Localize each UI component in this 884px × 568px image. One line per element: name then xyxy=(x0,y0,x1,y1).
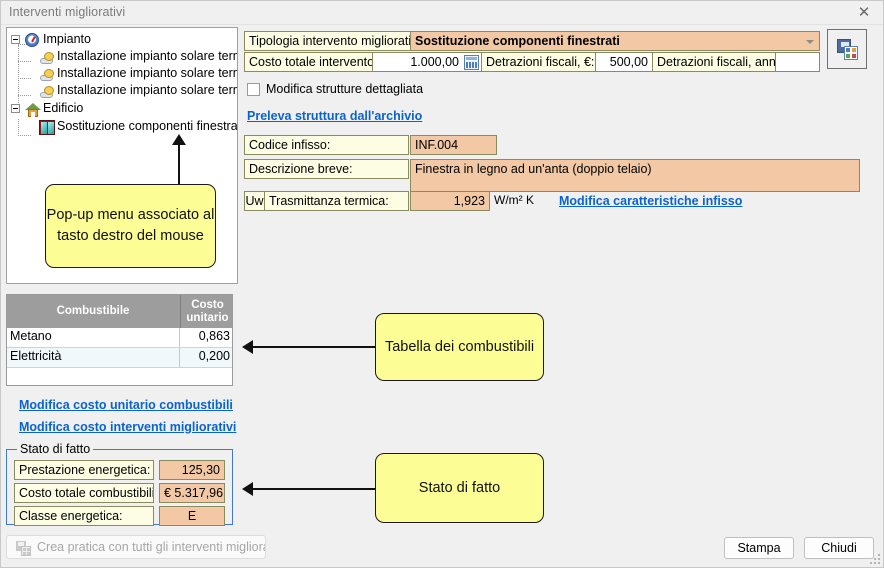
tree-node-label: Sostituzione componenti finestrati xyxy=(57,119,238,133)
trasmittanza-unit: W/m² K xyxy=(494,193,534,207)
cell-costo-unitario: 0,863 xyxy=(180,329,230,343)
cell-combustibile: Metano xyxy=(10,329,52,343)
save-disk-icon xyxy=(837,39,859,61)
annotation-popup-menu: Pop-up menu associato al tasto destro de… xyxy=(45,184,216,268)
detrazioni-anni-input[interactable] xyxy=(775,52,820,72)
annotation-tabella-combustibili: Tabella dei combustibili xyxy=(375,313,544,381)
tree-node-label: Installazione impianto solare termico c xyxy=(57,83,238,97)
window-title: Interventi migliorativi xyxy=(9,5,125,19)
fuel-table[interactable]: Combustibile Costo unitario Metano 0,863… xyxy=(6,294,233,386)
modifica-costo-unitario-link[interactable]: Modifica costo unitario combustibili xyxy=(19,398,233,412)
solar-cloud-icon xyxy=(39,52,55,65)
prestazione-energetica-value: 125,30 xyxy=(159,460,225,480)
tipologia-value: Sostituzione componenti finestrati xyxy=(415,34,620,48)
annotation-line-stato xyxy=(253,488,377,490)
tipologia-combobox[interactable]: Sostituzione componenti finestrati xyxy=(410,31,820,51)
descrizione-breve-label: Descrizione breve: xyxy=(244,159,409,179)
save-disk-icon xyxy=(16,541,31,556)
tree-connector xyxy=(18,119,19,136)
tree-connector xyxy=(18,78,31,79)
modifica-costo-interventi-link[interactable]: Modifica costo interventi migliorativi xyxy=(19,420,236,434)
stato-di-fatto-group: Stato di fatto Prestazione energetica: 1… xyxy=(6,449,233,525)
tree-connector xyxy=(18,61,31,62)
annotation-line-tabella xyxy=(253,346,377,348)
trasmittanza-label: Trasmittanza termica: xyxy=(264,191,409,211)
tree-connector xyxy=(18,135,31,136)
modifica-caratteristiche-infisso-link[interactable]: Modifica caratteristiche infisso xyxy=(559,194,742,208)
classe-energetica-label: Classe energetica: xyxy=(14,506,154,526)
costo-label: Costo totale intervento, €: xyxy=(244,52,374,72)
crea-pratica-button[interactable]: Crea pratica con tutti gli interventi mi… xyxy=(6,535,266,559)
tree-node-label: Installazione impianto solare termico p xyxy=(57,66,238,80)
annotation-line-popup xyxy=(178,144,180,185)
dialog-window: Interventi migliorativi ✕ Impianto Insta… xyxy=(0,0,884,568)
prestazione-energetica-label: Prestazione energetica: xyxy=(14,460,154,480)
title-bar: Interventi migliorativi ✕ xyxy=(1,1,883,25)
table-row[interactable]: Metano 0,863 xyxy=(7,328,233,347)
tipologia-label: Tipologia intervento migliorativo: xyxy=(244,31,412,51)
tree-node-label: Installazione impianto solare termico p xyxy=(57,49,238,63)
costo-value: 1.000,00 xyxy=(410,55,459,69)
costo-input[interactable]: 1.000,00 xyxy=(372,52,482,72)
table-row-empty[interactable] xyxy=(7,368,233,385)
descrizione-breve-value: Finestra in legno ad un'anta (doppio tel… xyxy=(410,159,860,192)
cell-costo-unitario: 0,200 xyxy=(180,349,230,363)
detrazioni-eur-input[interactable]: 500,00 xyxy=(595,52,653,72)
trasmittanza-value: 1,923 xyxy=(410,191,490,211)
codice-infisso-label: Codice infisso: xyxy=(244,135,409,155)
column-header-combustibile: Combustibile xyxy=(7,295,179,328)
expander-icon[interactable] xyxy=(11,104,20,113)
detrazioni-anni-label: Detrazioni fiscali, anni: xyxy=(652,52,776,72)
detrazioni-eur-label: Detrazioni fiscali, €: xyxy=(481,52,596,72)
costo-totale-combustibili-value: € 5.317,96 xyxy=(159,483,225,503)
chiudi-button[interactable]: Chiudi xyxy=(804,537,874,559)
calculator-icon[interactable] xyxy=(464,55,479,70)
close-icon[interactable]: ✕ xyxy=(851,3,877,23)
solar-cloud-icon xyxy=(39,86,55,99)
costo-totale-combustibili-label: Costo totale combustibili: xyxy=(14,483,154,503)
stampa-button[interactable]: Stampa xyxy=(724,537,794,559)
house-icon xyxy=(25,103,41,117)
annotation-arrowhead-popup xyxy=(172,134,186,145)
resize-grip[interactable] xyxy=(870,554,880,564)
save-button[interactable] xyxy=(827,29,867,69)
fuel-table-header: Combustibile Costo unitario xyxy=(7,295,233,328)
expander-icon[interactable] xyxy=(11,35,20,44)
window-icon xyxy=(39,120,55,135)
modifica-strutture-label: Modifica strutture dettagliata xyxy=(266,82,423,96)
preleva-struttura-link[interactable]: Preleva struttura dall'archivio xyxy=(247,109,422,123)
chevron-down-icon[interactable] xyxy=(801,33,818,50)
cell-combustibile: Elettricità xyxy=(10,349,61,363)
tree-node-label: Edificio xyxy=(43,101,83,115)
tree-node-label: Impianto xyxy=(43,32,91,46)
stato-di-fatto-legend: Stato di fatto xyxy=(17,442,93,456)
tree-connector xyxy=(18,95,31,96)
annotation-arrowhead-stato xyxy=(242,482,253,496)
annotation-arrowhead-tabella xyxy=(242,340,253,354)
solar-cloud-icon xyxy=(39,69,55,82)
codice-infisso-value: INF.004 xyxy=(410,135,497,155)
checkbox-icon[interactable] xyxy=(247,83,260,96)
gauge-icon xyxy=(25,33,39,47)
table-row[interactable]: Elettricità 0,200 xyxy=(7,348,233,367)
crea-pratica-label: Crea pratica con tutti gli interventi mi… xyxy=(37,540,266,554)
annotation-stato-di-fatto: Stato di fatto xyxy=(375,453,544,523)
classe-energetica-value: E xyxy=(159,506,225,526)
column-header-costo-unitario: Costo unitario xyxy=(180,295,233,328)
uw-label: Uw xyxy=(244,191,265,211)
